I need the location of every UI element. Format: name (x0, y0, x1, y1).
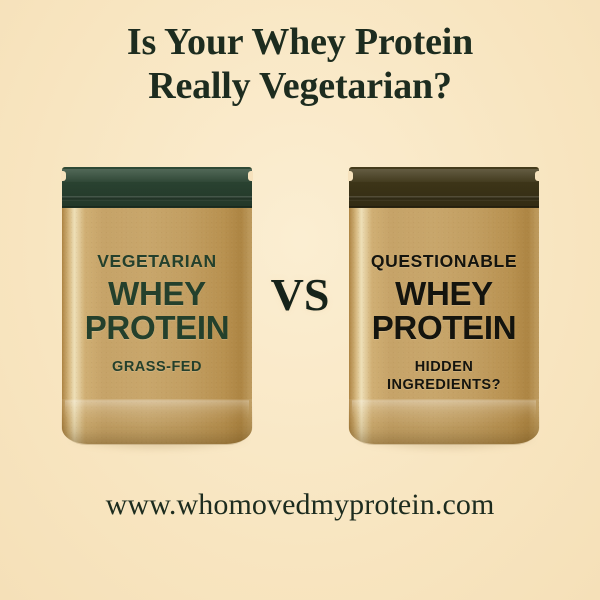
pouch-title: WHEY PROTEIN (62, 277, 252, 346)
product-pouch-questionable: QUESTIONABLE WHEY PROTEIN HIDDEN INGREDI… (349, 167, 539, 444)
pouch-title-line-1: WHEY (349, 277, 539, 311)
versus-label: VS (252, 272, 348, 318)
product-pouch-vegetarian: VEGETARIAN WHEY PROTEIN GRASS-FED (62, 167, 252, 444)
footer-website-url: www.whomovedmyprotein.com (0, 488, 600, 522)
pouch-label-vegetarian: VEGETARIAN WHEY PROTEIN GRASS-FED (62, 167, 252, 444)
page-title-line-2: Really Vegetarian? (0, 64, 600, 108)
pouch-tagline-line-2: INGREDIENTS? (349, 377, 539, 395)
page-title: Is Your Whey Protein Really Vegetarian? (0, 20, 600, 108)
page-title-line-1: Is Your Whey Protein (0, 20, 600, 64)
pouch-tagline-line-1: GRASS-FED (62, 359, 252, 377)
pouch-tagline-line-1: HIDDEN (349, 359, 539, 377)
pouch-eyebrow-text: QUESTIONABLE (349, 251, 539, 272)
pouch-title-line-1: WHEY (62, 277, 252, 311)
pouch-eyebrow-text: VEGETARIAN (62, 251, 252, 272)
pouch-tagline: GRASS-FED (62, 359, 252, 377)
poster-canvas: Is Your Whey Protein Really Vegetarian? … (0, 0, 600, 600)
pouch-title-line-2: PROTEIN (349, 311, 539, 345)
pouch-tagline: HIDDEN INGREDIENTS? (349, 359, 539, 394)
pouch-label-questionable: QUESTIONABLE WHEY PROTEIN HIDDEN INGREDI… (349, 167, 539, 444)
pouch-title-line-2: PROTEIN (62, 311, 252, 345)
pouch-title: WHEY PROTEIN (349, 277, 539, 346)
